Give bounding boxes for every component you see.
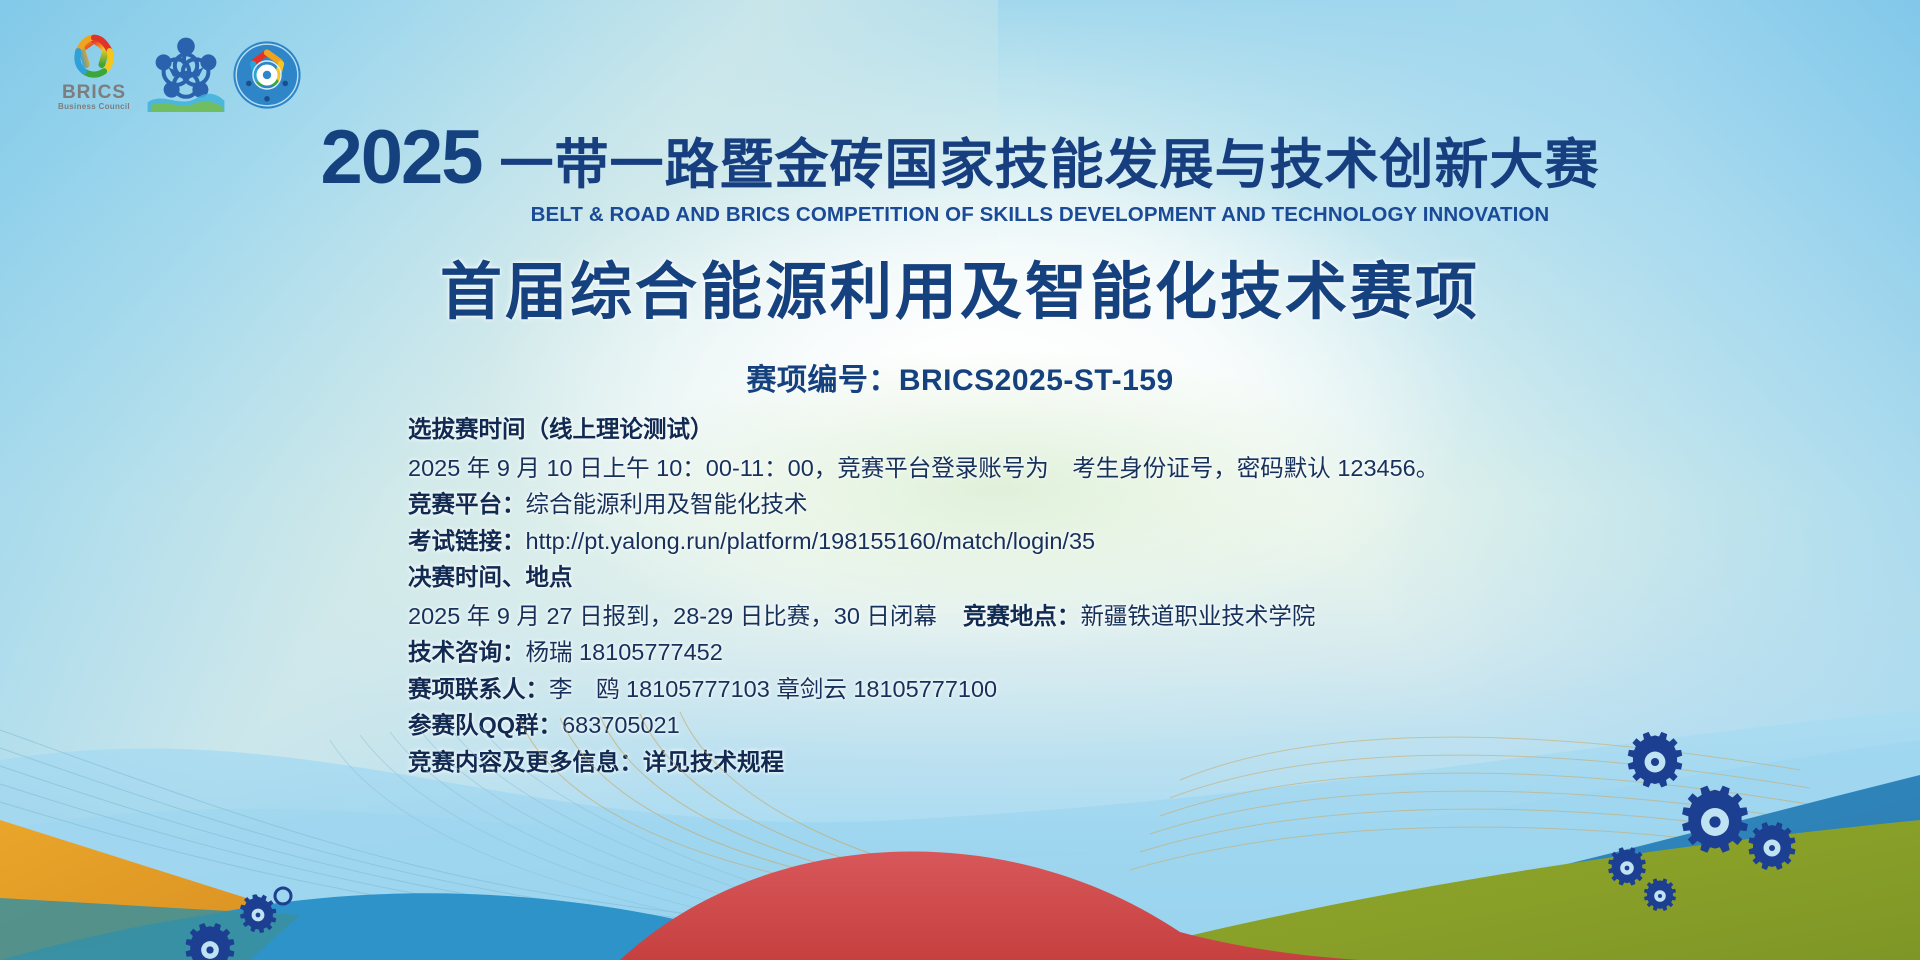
tech-support-label: 技术咨询： <box>408 639 526 665</box>
brics-star-icon <box>66 32 122 86</box>
skills-emblem-logo <box>146 32 226 112</box>
poster-canvas: BRICS Business Council <box>0 0 1920 960</box>
title-line-primary: 2025 一带一路暨金砖国家技能发展与技术创新大赛 <box>0 120 1920 199</box>
competition-title-cn: 一带一路暨金砖国家技能发展与技术创新大赛 <box>500 120 1600 199</box>
contact-value: 李 鸥 18105777103 章剑云 18105777100 <box>549 676 997 702</box>
event-subtitle-cn: 首届综合能源利用及智能化技术赛项 <box>0 241 1920 331</box>
selection-text-row: 2025 年 9 月 10 日上午 10：00-11：00，竞赛平台登录账号为 … <box>408 457 1608 481</box>
final-text-row: 2025 年 9 月 27 日报到，28-29 日比赛，30 日闭幕竞赛地点：新… <box>408 605 1608 629</box>
selection-text: 2025 年 9 月 10 日上午 10：00-11：00，竞赛平台登录账号为 … <box>408 455 1439 481</box>
final-heading: 决赛时间、地点 <box>408 564 573 590</box>
brics-logo-text-line1: BRICS <box>48 82 140 104</box>
exam-link-label: 考试链接： <box>408 528 526 554</box>
final-text: 2025 年 9 月 27 日报到，28-29 日比赛，30 日闭幕 <box>408 603 937 629</box>
skills-emblem-icon <box>146 32 226 112</box>
venue-value: 新疆铁道职业技术学院 <box>1080 603 1315 629</box>
selection-heading: 选拔赛时间（线上理论测试） <box>408 416 714 442</box>
contact-label: 赛项联系人： <box>408 676 549 702</box>
title-block: 2025 一带一路暨金砖国家技能发展与技术创新大赛 BELT & ROAD AN… <box>0 120 1920 399</box>
year-label: 2025 <box>320 122 481 194</box>
competition-round-emblem-icon <box>232 40 302 110</box>
bottom-decoration <box>0 700 1920 960</box>
tech-support-row: 技术咨询：杨瑞 18105777452 <box>408 641 1608 665</box>
platform-label: 竞赛平台： <box>408 491 526 517</box>
selection-heading-row: 选拔赛时间（线上理论测试） <box>408 418 1608 442</box>
tech-support-value: 杨瑞 18105777452 <box>526 639 723 665</box>
platform-row: 竞赛平台：综合能源利用及智能化技术 <box>408 493 1608 517</box>
brics-logo-text-line2: Business Council <box>48 102 140 111</box>
competition-round-emblem-logo <box>232 40 302 110</box>
platform-value: 综合能源利用及智能化技术 <box>526 491 808 517</box>
final-heading-row: 决赛时间、地点 <box>408 566 1608 590</box>
contact-row: 赛项联系人：李 鸥 18105777103 章剑云 18105777100 <box>408 678 1608 702</box>
event-code: 赛项编号：BRICS2025-ST-159 <box>0 355 1920 399</box>
logo-group: BRICS Business Council <box>48 32 302 114</box>
competition-title-en: BELT & ROAD AND BRICS COMPETITION OF SKI… <box>0 203 1920 227</box>
venue-label: 竞赛地点： <box>963 603 1081 629</box>
exam-link-row: 考试链接：http://pt.yalong.run/platform/19815… <box>408 530 1608 554</box>
exam-link-value[interactable]: http://pt.yalong.run/platform/198155160/… <box>526 528 1096 554</box>
brics-business-council-logo: BRICS Business Council <box>48 32 140 114</box>
